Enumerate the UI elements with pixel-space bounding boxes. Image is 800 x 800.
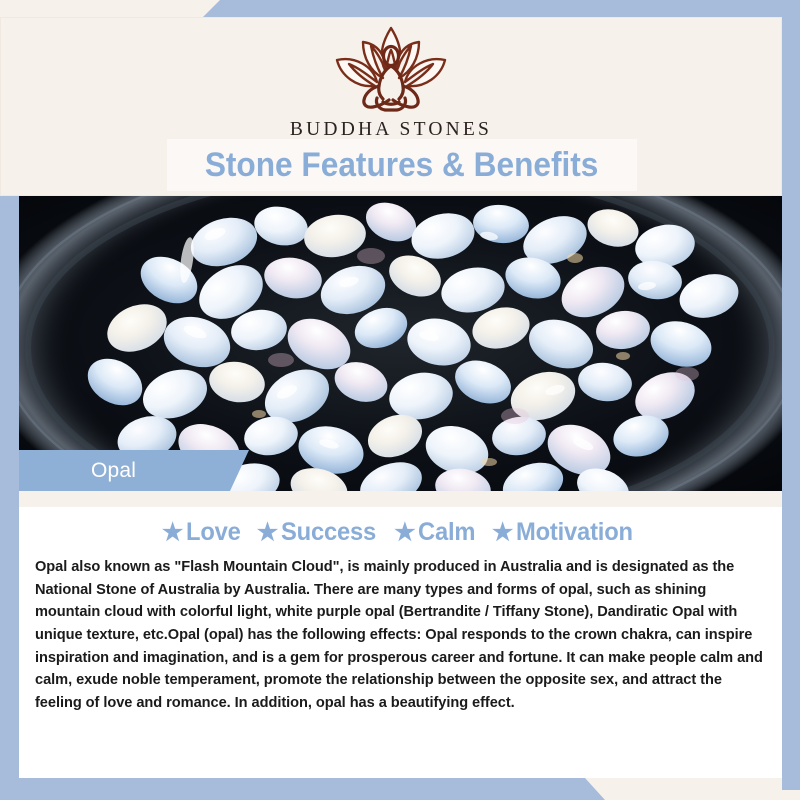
stone-photo bbox=[19, 196, 782, 491]
benefit-label: Love bbox=[186, 518, 241, 547]
benefit-label: Success bbox=[281, 518, 376, 547]
star-icon: ★ bbox=[257, 521, 278, 545]
brand-name: BUDDHA STONES bbox=[0, 119, 782, 141]
benefit-success: ★ Success bbox=[257, 518, 381, 547]
infographic-page: BUDDHA STONES Stone Features & Benefits bbox=[0, 0, 800, 800]
star-icon: ★ bbox=[492, 521, 513, 545]
right-blue-accent-bar bbox=[782, 0, 800, 790]
star-icon: ★ bbox=[162, 521, 183, 545]
star-icon: ★ bbox=[394, 521, 415, 545]
benefits-row: ★ Love ★ Success ★ Calm ★ Motivation bbox=[19, 507, 782, 547]
opalite-stones-image bbox=[19, 196, 782, 491]
stone-name-label: Opal bbox=[91, 459, 136, 483]
bottom-blue-accent-bar bbox=[0, 778, 800, 800]
content-card: ★ Love ★ Success ★ Calm ★ Motivation Opa… bbox=[19, 507, 782, 778]
brand-logo: BUDDHA STONES bbox=[0, 22, 782, 141]
left-blue-accent-bar bbox=[0, 196, 19, 800]
page-title: Stone Features & Benefits bbox=[205, 146, 599, 185]
benefit-label: Calm bbox=[418, 518, 475, 547]
lotus-meditation-icon bbox=[315, 22, 467, 118]
cream-separator bbox=[19, 491, 782, 507]
benefit-love: ★ Love bbox=[162, 518, 244, 547]
benefit-label: Motivation bbox=[516, 518, 633, 547]
top-blue-accent-bar bbox=[0, 0, 800, 17]
title-banner: Stone Features & Benefits bbox=[167, 139, 637, 191]
benefit-motivation: ★ Motivation bbox=[492, 518, 639, 547]
stone-name-ribbon: Opal bbox=[19, 450, 249, 491]
stone-description: Opal also known as "Flash Mountain Cloud… bbox=[35, 556, 766, 715]
benefit-calm: ★ Calm bbox=[394, 518, 479, 547]
